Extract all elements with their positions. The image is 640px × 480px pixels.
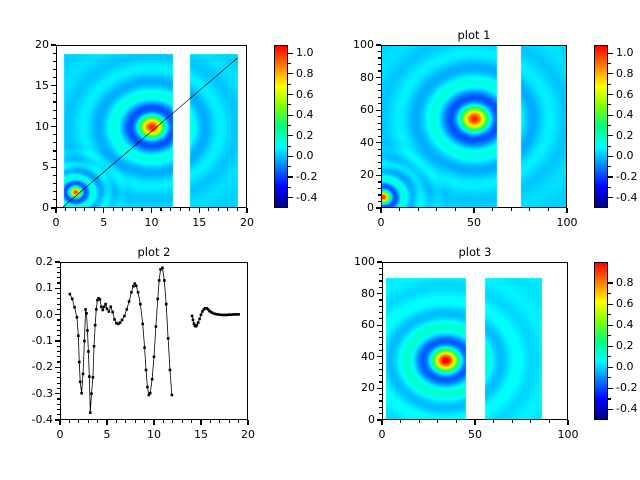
- panel-bottom-right-xticklabel: 0: [357, 428, 407, 441]
- panel-bottom-right-ytick-minor: [379, 381, 382, 382]
- panel-bottom-right-heatmap-canvas: [383, 263, 567, 419]
- panel-bottom-right-colorbar-tick-minor: [608, 293, 611, 294]
- panel-bottom-right-ytick-minor: [379, 356, 382, 357]
- panel-bottom-right-xtick-minor: [549, 420, 550, 423]
- panel-bottom-right-xtick-minor: [512, 420, 513, 423]
- panel-bottom-right-colorbar-tick-minor: [608, 388, 611, 389]
- panel-bottom-right-xticklabel: 100: [543, 428, 593, 441]
- panel-bottom-right-colorbar-label: 0.6: [616, 297, 634, 310]
- panel-bottom-right-yticklabel: 100: [330, 255, 375, 268]
- panel-bottom-right-ytick-minor: [379, 337, 382, 338]
- panel-bottom-right-ytick-minor: [379, 325, 382, 326]
- panel-bottom-right-xticklabel: 50: [450, 428, 500, 441]
- panel-bottom-right-ytick-minor: [379, 407, 382, 408]
- panel-bottom-right-yticklabel: 40: [330, 350, 375, 363]
- panel-bottom-right-ytick-minor: [379, 299, 382, 300]
- panel-bottom-right-colorbar-tick-minor: [608, 282, 611, 283]
- panel-bottom-right-ytick-minor: [379, 293, 382, 294]
- panel-bottom-right-colorbar-label: 0.8: [616, 276, 634, 289]
- panel-bottom-right-yticklabel: 60: [330, 318, 375, 331]
- figure-canvas: 05101520051015201.00.80.60.40.20.0-0.2-0…: [0, 0, 640, 480]
- panel-bottom-right-xtick-minor: [381, 420, 382, 423]
- panel-bottom-right-ytick-minor: [379, 261, 382, 262]
- panel-bottom-right-ytick-minor: [379, 318, 382, 319]
- panel-bottom-right-image: [383, 263, 567, 419]
- panel-bottom-right-colorbar-label: 0.2: [616, 339, 634, 352]
- panel-bottom-right-title: plot 3: [415, 245, 535, 259]
- panel-bottom-right-colorbar-tick-minor: [608, 367, 611, 368]
- panel-bottom-right-colorbar-tick-minor: [608, 409, 611, 410]
- panel-bottom-right-colorbar-label: 0.0: [616, 360, 634, 373]
- panel-bottom-right-ytick-minor: [379, 312, 382, 313]
- panel-bottom-right-colorbar-tick-minor: [608, 325, 611, 326]
- panel-bottom-right-colorbar-tick-minor: [608, 335, 611, 336]
- panel-bottom-right-ytick-minor: [379, 363, 382, 364]
- panel-bottom-right: plot 30204060801000501000.80.60.40.20.0-…: [0, 0, 640, 480]
- panel-bottom-right-ytick-minor: [379, 350, 382, 351]
- panel-bottom-right-colorbar-tick-minor: [608, 346, 611, 347]
- panel-bottom-right-colorbar-tick-minor: [608, 356, 611, 357]
- panel-bottom-right-ytick-minor: [379, 413, 382, 414]
- panel-bottom-right-ytick-minor: [379, 394, 382, 395]
- panel-bottom-right-colorbar-tick-minor: [608, 377, 611, 378]
- panel-bottom-right-yticklabel: 0: [330, 413, 375, 426]
- panel-bottom-right-xtick-minor: [437, 420, 438, 423]
- panel-bottom-right-ytick-minor: [379, 280, 382, 281]
- panel-bottom-right-yticklabel: 20: [330, 381, 375, 394]
- panel-bottom-right-ytick-minor: [379, 344, 382, 345]
- panel-bottom-right-colorbar-tick-minor: [608, 304, 611, 305]
- panel-bottom-right-ytick-minor: [379, 306, 382, 307]
- panel-bottom-right-colorbar-label: 0.4: [616, 318, 634, 331]
- panel-bottom-right-ytick-minor: [379, 388, 382, 389]
- panel-bottom-right-xtick-minor: [419, 420, 420, 423]
- panel-bottom-right-xtick-minor: [493, 420, 494, 423]
- panel-bottom-right-colorbar-tick-minor: [608, 398, 611, 399]
- panel-bottom-right-xtick-minor: [400, 420, 401, 423]
- panel-bottom-right-colorbar-tick-minor: [608, 314, 611, 315]
- panel-bottom-right-xtick-minor: [567, 420, 568, 423]
- panel-bottom-right-colorbar: [594, 262, 608, 420]
- panel-bottom-right-ytick-minor: [379, 287, 382, 288]
- panel-bottom-right-ytick-minor: [379, 369, 382, 370]
- panel-bottom-right-ytick-minor: [379, 400, 382, 401]
- panel-bottom-right-colorbar-label: -0.4: [616, 402, 637, 415]
- panel-bottom-right-xtick-minor: [474, 420, 475, 423]
- panel-bottom-right-xtick-minor: [456, 420, 457, 423]
- panel-bottom-right-ytick-minor: [379, 268, 382, 269]
- panel-bottom-right-colorbar-label: -0.2: [616, 381, 637, 394]
- panel-bottom-right-xtick-minor: [530, 420, 531, 423]
- panel-bottom-right-yticklabel: 80: [330, 287, 375, 300]
- panel-bottom-right-ytick-minor: [379, 274, 382, 275]
- panel-bottom-right-ytick-minor: [379, 331, 382, 332]
- panel-bottom-right-ytick-minor: [379, 375, 382, 376]
